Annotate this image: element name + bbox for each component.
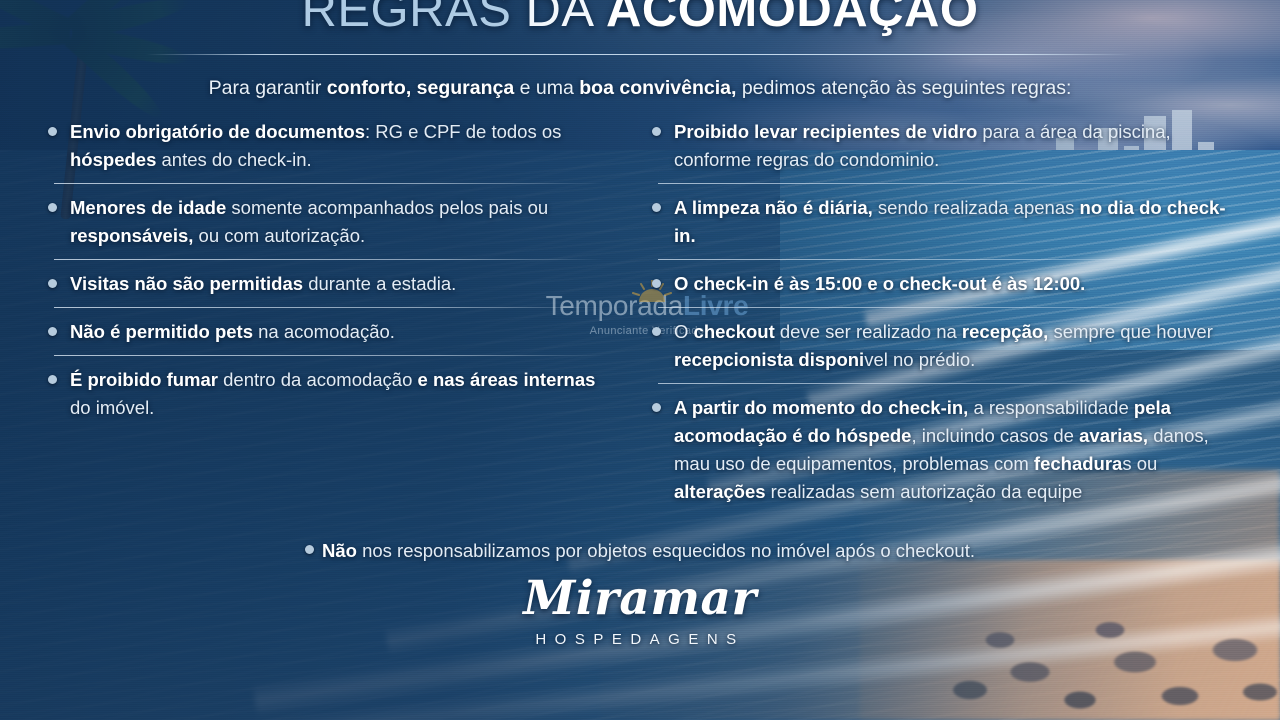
rule-divider [54, 183, 604, 184]
rule-segment: durante a estadia. [303, 273, 456, 294]
logo-name: Miramar [0, 575, 1280, 622]
rule-segment: O check-in é às 15:00 e o check-out é às… [674, 273, 1085, 294]
title-word-acomodacao: ACOMODAÇÃO [606, 0, 978, 37]
rule-text: É proibido fumar dentro da acomodação e … [70, 366, 604, 422]
rule-text: A partir do momento do check-in, a respo… [674, 394, 1228, 506]
rule-segment: recepcionista disponi [674, 349, 864, 370]
rule-segment: ou com autorização. [193, 225, 365, 246]
bullet-icon [48, 279, 57, 288]
rule-segment: realizadas sem autorização da equipe [766, 481, 1083, 502]
rule-text: Proibido levar recipientes de vidro para… [674, 118, 1228, 174]
rule-segment: Não é permitido pets [70, 321, 253, 342]
rule-divider [658, 259, 1228, 260]
rule-item: Proibido levar recipientes de vidro para… [648, 118, 1228, 174]
footnote-bold: Não [322, 540, 357, 561]
rule-divider [658, 307, 1228, 308]
rule-segment: Visitas não são permitidas [70, 273, 303, 294]
intro-seg-3: e uma [514, 77, 579, 99]
rule-segment: do imóvel. [70, 397, 154, 418]
rule-divider [54, 307, 604, 308]
bullet-icon [652, 127, 661, 136]
rule-item: A limpeza não é diária, sendo realizada … [648, 194, 1228, 250]
bullet-icon [305, 545, 314, 554]
rule-segment: O [674, 321, 694, 342]
bullet-icon [652, 403, 661, 412]
rule-segment: fechadura [1034, 453, 1122, 474]
rule-segment: alterações [674, 481, 766, 502]
rule-segment: s ou [1122, 453, 1157, 474]
page-title: REGRAS DA ACOMODAÇÃO [0, 0, 1280, 35]
rule-item: Não é permitido pets na acomodação. [44, 318, 604, 346]
rule-divider [658, 183, 1228, 184]
logo-subtitle: HOSPEDAGENS [0, 631, 1280, 648]
intro-seg-4: boa convivência, [579, 77, 736, 99]
intro-line: Para garantir conforto, segurança e uma … [0, 76, 1280, 101]
rule-divider [54, 259, 604, 260]
rule-segment: Menores de idade [70, 197, 226, 218]
rule-segment: deve ser realizado na [775, 321, 962, 342]
rule-segment: A limpeza não é diária, [674, 197, 873, 218]
rule-segment: responsáveis, [70, 225, 193, 246]
rule-text: Não é permitido pets na acomodação. [70, 318, 604, 346]
rule-text: Visitas não são permitidas durante a est… [70, 270, 604, 298]
rules-column-left: Envio obrigatório de documentos: RG e CP… [44, 118, 604, 422]
title-divider [146, 54, 1134, 55]
title-word-regras: REGRAS [301, 0, 511, 37]
rule-segment: sempre que houver [1048, 321, 1213, 342]
rule-segment: , incluindo casos de [911, 425, 1079, 446]
rules-column-right: Proibido levar recipientes de vidro para… [648, 118, 1228, 506]
rule-segment: antes do check-in. [156, 149, 311, 170]
rule-divider [54, 355, 604, 356]
rule-text: O check-in é às 15:00 e o check-out é às… [674, 270, 1228, 298]
rule-segment: avarias, [1079, 425, 1148, 446]
bullet-icon [48, 127, 57, 136]
rule-segment: É proibido fumar [70, 369, 218, 390]
footnote-rest: nos responsabilizamos por objetos esquec… [357, 540, 975, 561]
rule-item: O checkout deve ser realizado na recepçã… [648, 318, 1228, 374]
rule-segment: na acomodação. [253, 321, 395, 342]
rule-segment: dentro da acomodação [218, 369, 418, 390]
rule-segment: Envio obrigatório de documentos [70, 121, 365, 142]
rule-segment: checkout [694, 321, 775, 342]
bullet-icon [48, 327, 57, 336]
rule-segment: somente acompanhados pelos pais ou [226, 197, 548, 218]
rule-item: Visitas não são permitidas durante a est… [44, 270, 604, 298]
rule-item: A partir do momento do check-in, a respo… [648, 394, 1228, 506]
rule-segment: a responsabilidade [968, 397, 1134, 418]
rule-item: Menores de idade somente acompanhados pe… [44, 194, 604, 250]
rule-segment: recepção, [962, 321, 1048, 342]
rule-text: A limpeza não é diária, sendo realizada … [674, 194, 1228, 250]
rule-segment: vel no prédio. [864, 349, 975, 370]
bullet-icon [48, 203, 57, 212]
rule-segment: Proibido levar recipientes de vidro [674, 121, 977, 142]
bullet-icon [652, 279, 661, 288]
intro-seg-5: pedimos atenção às seguintes regras: [736, 77, 1071, 99]
rule-segment: sendo realizada apenas [873, 197, 1080, 218]
rule-segment: e nas áreas internas [418, 369, 596, 390]
rule-segment: hóspedes [70, 149, 156, 170]
rule-text: Envio obrigatório de documentos: RG e CP… [70, 118, 604, 174]
poster-canvas: TemporadaLivre Anunciante Verificado REG… [0, 0, 1280, 720]
intro-seg-1: Para garantir [209, 77, 327, 99]
rule-item: É proibido fumar dentro da acomodação e … [44, 366, 604, 422]
title-word-da: DA [526, 0, 592, 37]
rule-text: O checkout deve ser realizado na recepçã… [674, 318, 1228, 374]
poster-content: REGRAS DA ACOMODAÇÃO Para garantir confo… [0, 0, 1280, 720]
rule-segment: A partir do momento do check-in, [674, 397, 968, 418]
rule-item: O check-in é às 15:00 e o check-out é às… [648, 270, 1228, 298]
rule-segment: : RG e CPF de todos os [365, 121, 561, 142]
footnote: Não nos responsabilizamos por objetos es… [0, 538, 1280, 564]
rule-text: Menores de idade somente acompanhados pe… [70, 194, 604, 250]
rule-divider [658, 383, 1228, 384]
bullet-icon [652, 327, 661, 336]
intro-seg-2: conforto, segurança [327, 77, 514, 99]
bullet-icon [48, 375, 57, 384]
brand-logo: Miramar HOSPEDAGENS [0, 575, 1280, 648]
rule-item: Envio obrigatório de documentos: RG e CP… [44, 118, 604, 174]
bullet-icon [652, 203, 661, 212]
